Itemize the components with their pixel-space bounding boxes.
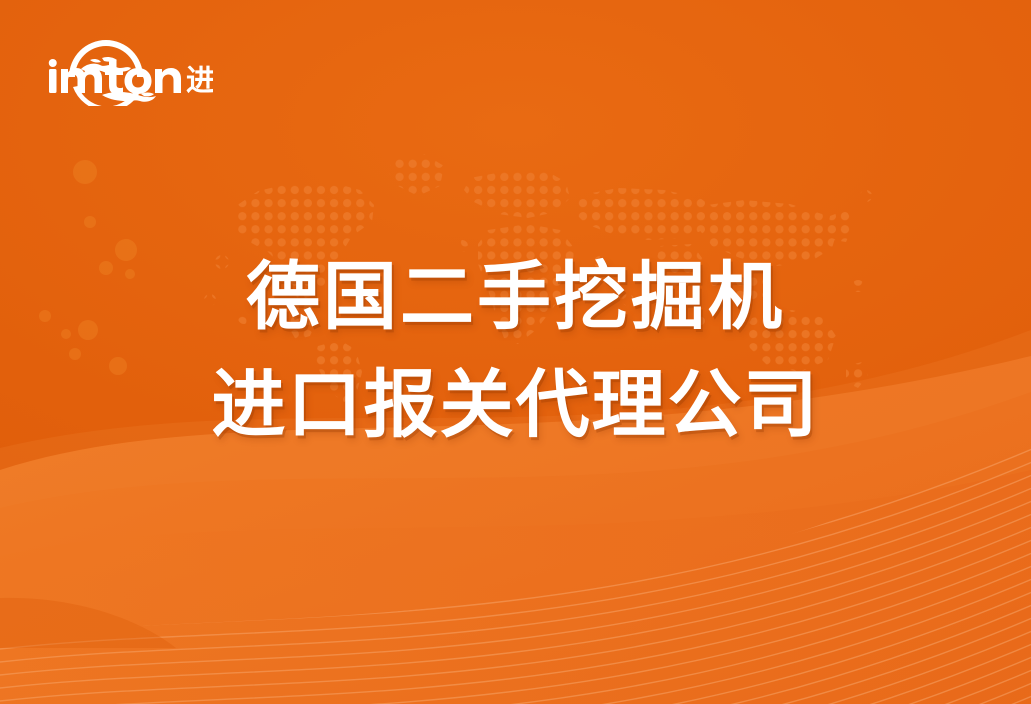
headline-line-2: 进口报关代理公司 <box>0 351 1031 459</box>
headline: 德国二手挖掘机 进口报关代理公司 <box>0 243 1031 459</box>
logo-chinese-wordmark: 进贸通 <box>186 63 213 97</box>
headline-line-1: 德国二手挖掘机 <box>0 243 1031 351</box>
imton-logo[interactable]: 进贸通 ® <box>38 28 213 106</box>
poster-banner: 进贸通 ® 德国二手挖掘机 进口报关代理公司 <box>0 0 1031 704</box>
